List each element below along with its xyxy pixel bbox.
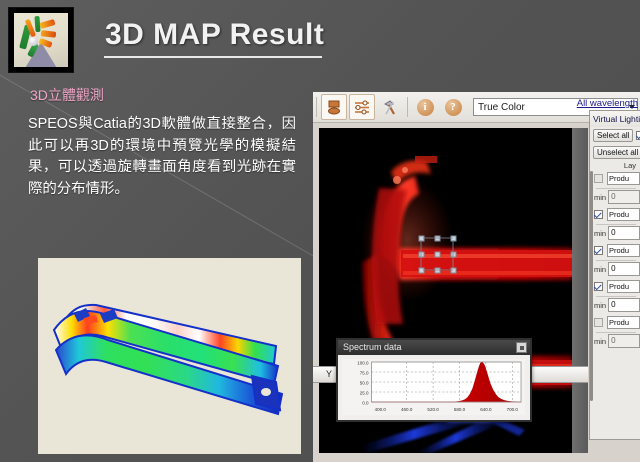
x-tick-label: 700.0 — [507, 407, 519, 412]
toolbar-divider-2 — [407, 97, 408, 117]
min-input[interactable]: 0 — [608, 226, 640, 240]
select-all-row: Select all — [590, 127, 640, 144]
min-input[interactable]: 0 — [608, 298, 640, 312]
spectrum-data-window: Spectrum data 0.025.050.075.0100.0400.04… — [336, 338, 532, 422]
y-tick-label: 0.0 — [362, 400, 369, 405]
select-all-button[interactable]: Select all — [593, 129, 633, 142]
row-min-group: min0 — [590, 190, 640, 206]
logo-artwork — [14, 13, 68, 67]
body-paragraph: SPEOS與Catia的3D軟體做直接整合，因此可以再3D的環境中預覽光學的模擬… — [28, 114, 296, 200]
color-mode-value: True Color — [478, 102, 525, 113]
spectrum-body: 0.025.050.075.0100.0400.0460.0520.0580.0… — [338, 355, 530, 418]
min-input[interactable]: 0 — [608, 190, 640, 204]
unselect-all-row: Unselect all dé — [590, 144, 640, 161]
viewport-right-band — [572, 128, 588, 453]
help-icon[interactable]: ? — [440, 94, 466, 120]
virtual-lighting-row: Produ — [590, 242, 640, 257]
page-subtitle: 3D立體觀測 — [30, 85, 104, 105]
row-min-group: min0 — [590, 226, 640, 242]
all-wavelength-link[interactable]: All wavelength — [577, 98, 638, 109]
unselect-all-button[interactable]: Unselect all — [593, 146, 640, 159]
sliders-icon[interactable] — [349, 94, 375, 120]
row-name-field[interactable]: Produ — [607, 172, 640, 185]
spectrum-titlebar[interactable]: Spectrum data — [338, 340, 530, 355]
x-tick-label: 400.0 — [375, 407, 387, 412]
row-min-group: min0 — [590, 262, 640, 278]
min-input[interactable]: 0 — [608, 334, 640, 348]
row-divider — [596, 296, 636, 297]
row-divider — [596, 188, 636, 189]
row-name-field[interactable]: Produ — [607, 244, 640, 257]
spectrum-title-label: Spectrum data — [343, 340, 402, 355]
axis-indicator-label: Y — [326, 369, 332, 379]
virtual-lighting-row: Produ — [590, 170, 640, 185]
y-tick-label: 25.0 — [360, 390, 369, 395]
slide-canvas: 3D MAP Result 3D立體觀測 SPEOS與Catia的3D軟體做直接… — [0, 0, 640, 462]
logo-ray-orange-2 — [39, 19, 55, 29]
false-color-artwork — [38, 258, 301, 454]
row-checkbox[interactable] — [594, 246, 603, 255]
row-checkbox[interactable] — [594, 282, 603, 291]
min-label: min — [594, 265, 606, 274]
virtual-lighting-panel: Virtual Lighting Select all Unselect all… — [589, 110, 640, 440]
select-all-checkbox[interactable] — [636, 131, 640, 140]
min-label: min — [594, 229, 606, 238]
min-label: min — [594, 301, 606, 310]
x-tick-label: 460.0 — [401, 407, 413, 412]
virtual-lighting-row-list: Produmin0Produmin0Produmin0Produmin0Prod… — [590, 170, 640, 350]
x-tick-label: 640.0 — [480, 407, 492, 412]
false-color-illuminance-image — [38, 258, 301, 454]
row-name-field[interactable]: Produ — [607, 280, 640, 293]
row-checkbox[interactable] — [594, 318, 603, 327]
shapes-icon[interactable] — [321, 94, 347, 120]
logo-sphere — [29, 37, 38, 46]
row-min-group: min0 — [590, 334, 640, 350]
row-name-field[interactable]: Produ — [607, 208, 640, 221]
y-tick-label: 100.0 — [357, 360, 369, 365]
speos-logo — [8, 7, 74, 73]
logo-ray-orange-3 — [41, 31, 57, 38]
title-underline — [104, 56, 322, 58]
row-divider — [596, 332, 636, 333]
panel-scrollbar[interactable] — [590, 171, 593, 401]
x-tick-label: 580.0 — [454, 407, 466, 412]
toolbar-divider — [316, 97, 317, 117]
layer-column-header: Lay — [590, 161, 640, 170]
virtual-lighting-row: Produ — [590, 278, 640, 293]
row-checkbox[interactable] — [594, 210, 603, 219]
min-label: min — [594, 193, 606, 202]
virtual-lighting-row: Produ — [590, 314, 640, 329]
row-min-group: min0 — [590, 298, 640, 314]
virtual-lighting-row: Produ — [590, 206, 640, 221]
x-tick-label: 520.0 — [427, 407, 439, 412]
y-tick-label: 75.0 — [360, 370, 369, 375]
close-icon[interactable] — [516, 342, 527, 353]
info-icon[interactable]: i — [412, 94, 438, 120]
spectrum-chart: 0.025.050.075.0100.0400.0460.0520.0580.0… — [342, 359, 525, 415]
row-name-field[interactable]: Produ — [607, 316, 640, 329]
virtual-lighting-title: Virtual Lighting — [590, 111, 640, 127]
y-tick-label: 50.0 — [360, 380, 369, 385]
min-input[interactable]: 0 — [608, 262, 640, 276]
row-divider — [596, 260, 636, 261]
row-divider — [596, 224, 636, 225]
page-title: 3D MAP Result — [105, 18, 324, 52]
hammer-tools-icon[interactable] — [377, 94, 403, 120]
min-label: min — [594, 337, 606, 346]
row-checkbox[interactable] — [594, 174, 603, 183]
